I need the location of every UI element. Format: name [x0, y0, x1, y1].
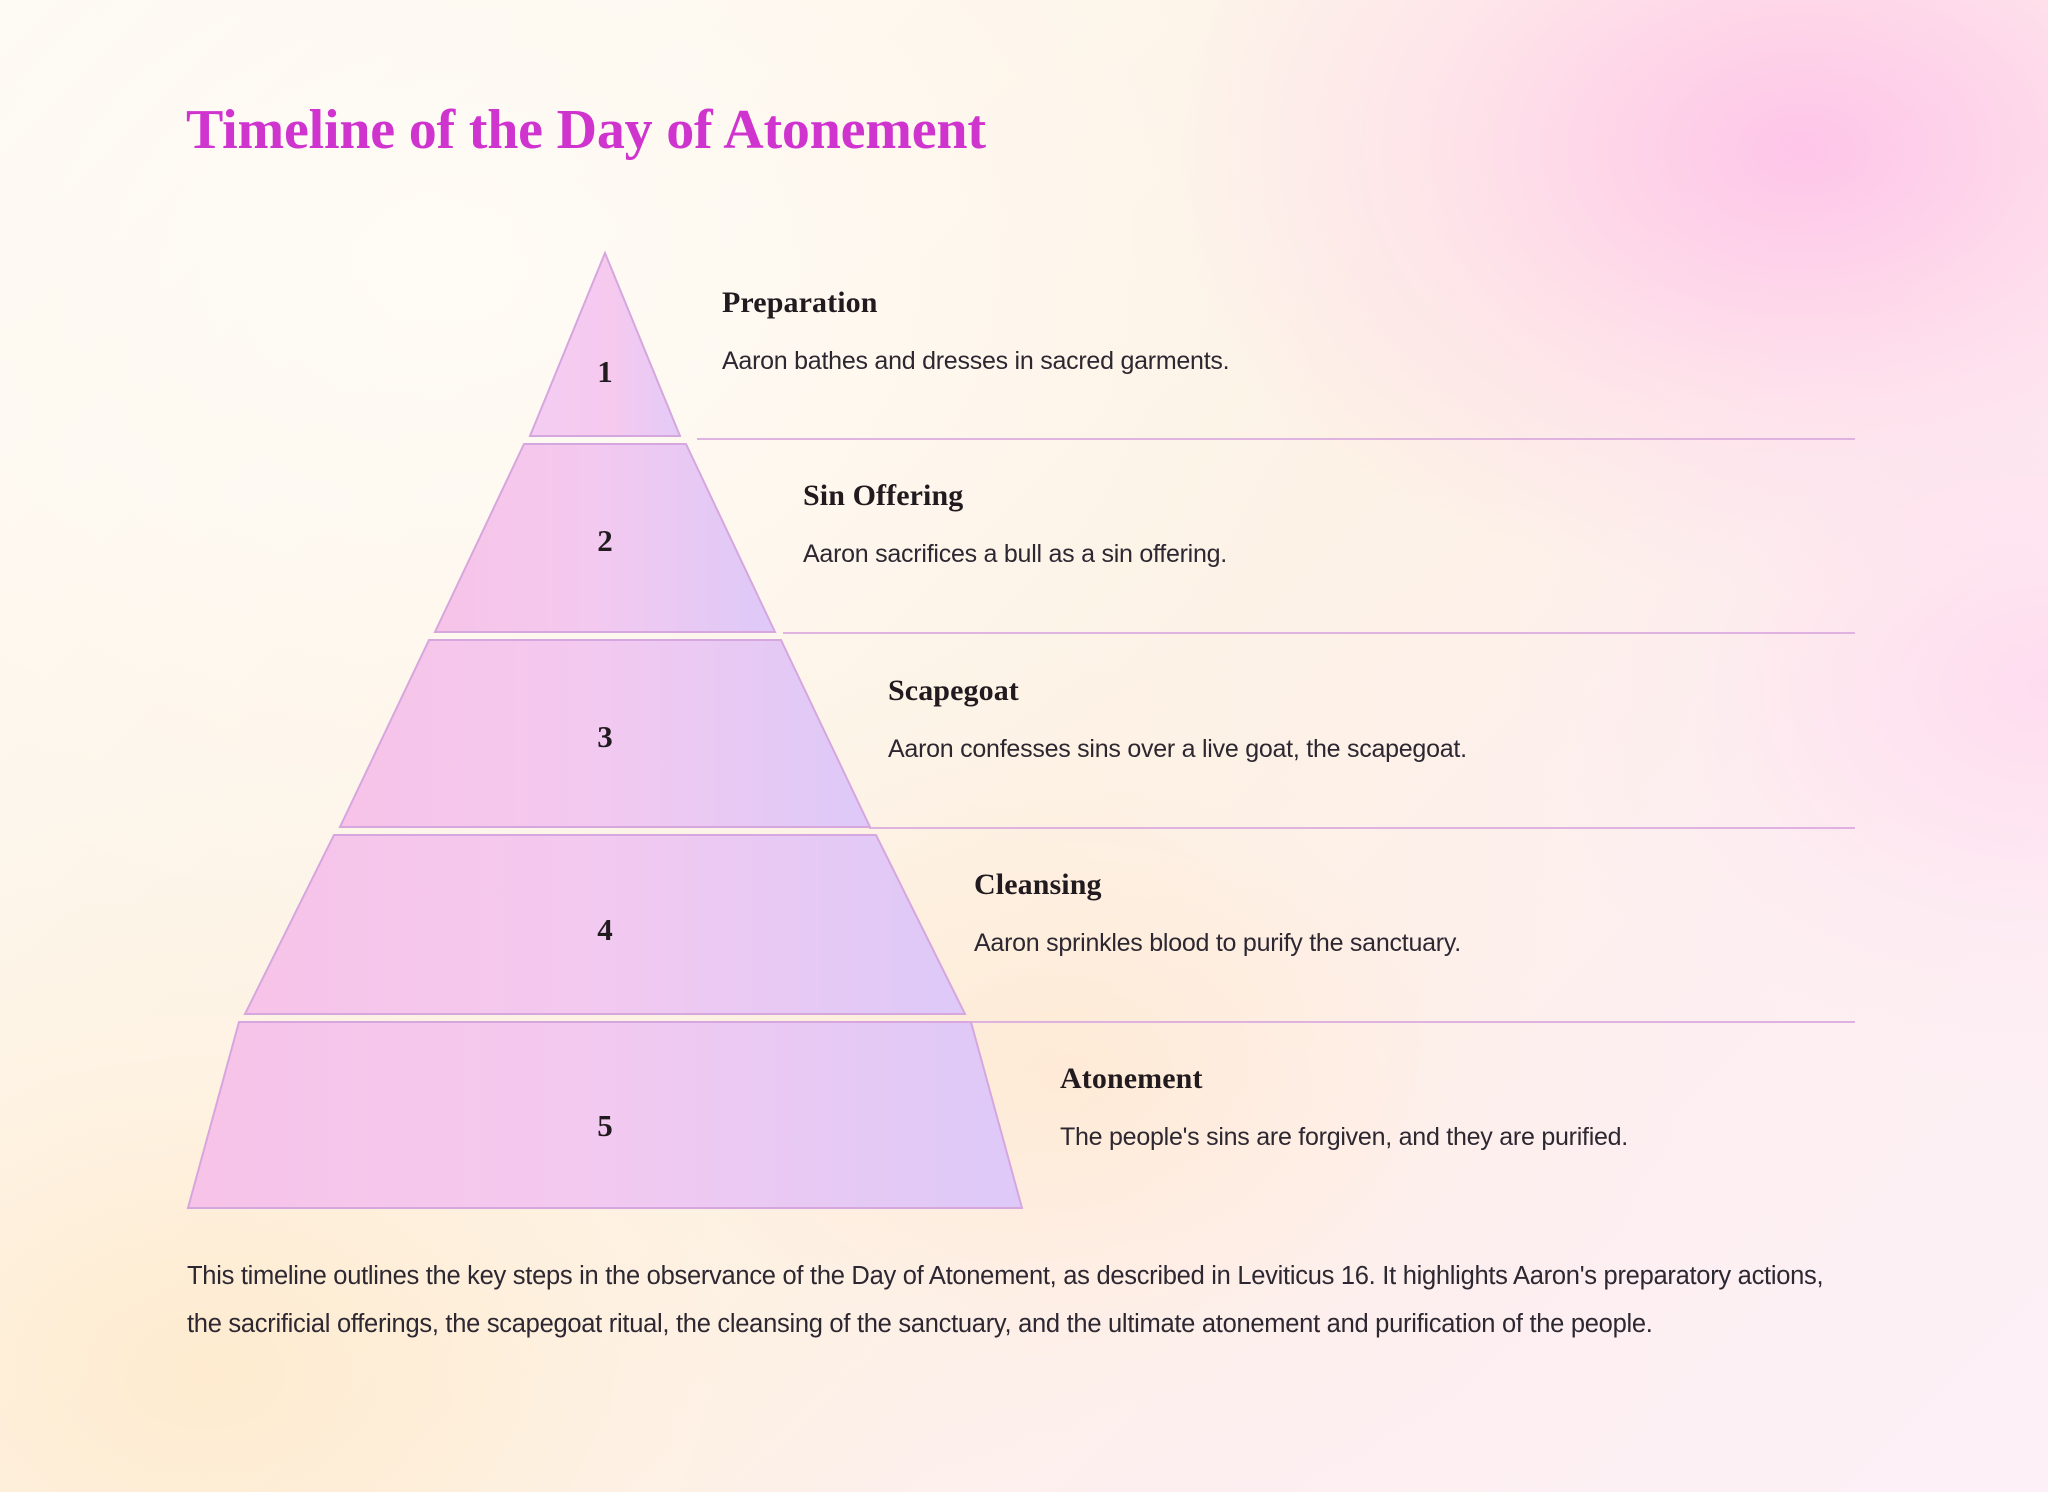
pyramid-level-5[interactable]: 5 — [188, 1022, 1022, 1208]
step-5-description: The people's sins are forgiven, and they… — [1060, 1123, 1628, 1152]
footer-note: This timeline outlines the key steps in … — [187, 1252, 1857, 1348]
step-2-description: Aaron sacrifices a bull as a sin offerin… — [803, 540, 1227, 569]
pyramid-level-4-number: 4 — [597, 912, 613, 947]
step-3-title: Scapegoat — [888, 674, 1467, 708]
step-1-title: Preparation — [722, 286, 1229, 320]
step-5-title: Atonement — [1060, 1062, 1628, 1096]
step-item-4[interactable]: Cleansing Aaron sprinkles blood to purif… — [974, 868, 1461, 958]
step-divider-1 — [697, 438, 1855, 440]
step-1-description: Aaron bathes and dresses in sacred garme… — [722, 347, 1229, 376]
step-item-5[interactable]: Atonement The people's sins are forgiven… — [1060, 1062, 1628, 1152]
pyramid-level-3[interactable]: 3 — [340, 640, 870, 827]
pyramid-level-1[interactable]: 1 — [530, 253, 680, 436]
pyramid-level-3-number: 3 — [597, 719, 613, 754]
pyramid-level-4[interactable]: 4 — [245, 835, 965, 1014]
step-item-1[interactable]: Preparation Aaron bathes and dresses in … — [722, 286, 1229, 376]
pyramid-level-5-number: 5 — [597, 1108, 613, 1143]
step-divider-4 — [955, 1021, 1855, 1023]
step-item-3[interactable]: Scapegoat Aaron confesses sins over a li… — [888, 674, 1467, 764]
step-4-description: Aaron sprinkles blood to purify the sanc… — [974, 929, 1461, 958]
step-3-description: Aaron confesses sins over a live goat, t… — [888, 735, 1467, 764]
pyramid-level-2[interactable]: 2 — [435, 444, 775, 632]
pyramid-level-1-number: 1 — [597, 354, 613, 389]
step-divider-3 — [869, 827, 1855, 829]
pyramid-level-2-number: 2 — [597, 523, 613, 558]
step-2-title: Sin Offering — [803, 479, 1227, 513]
step-4-title: Cleansing — [974, 868, 1461, 902]
step-item-2[interactable]: Sin Offering Aaron sacrifices a bull as … — [803, 479, 1227, 569]
step-divider-2 — [783, 632, 1855, 634]
